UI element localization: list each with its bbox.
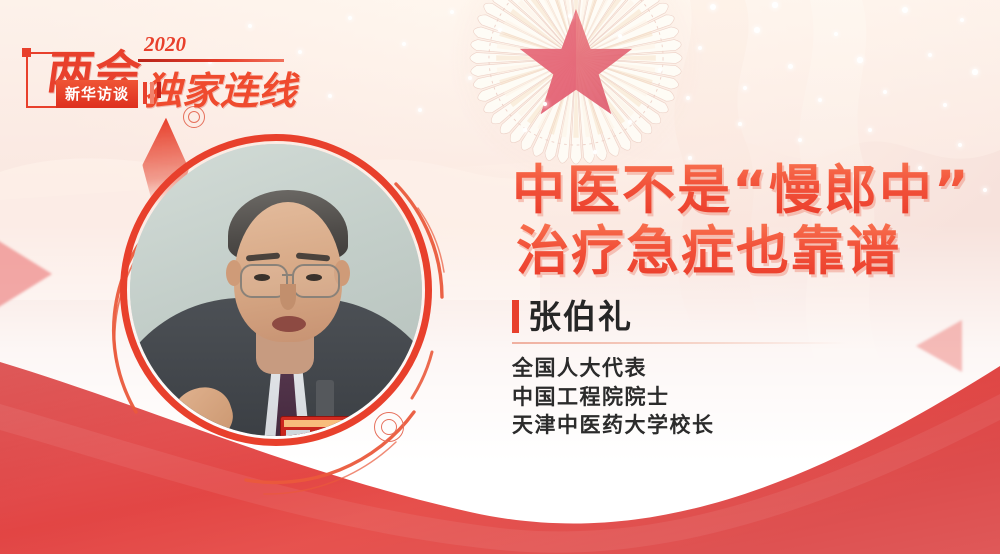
light-dot	[686, 96, 690, 100]
light-dot	[658, 68, 662, 72]
headline-line-2: 治疗急症也靠谱	[516, 221, 982, 282]
guest-portrait-block	[96, 112, 496, 512]
light-dot	[628, 120, 632, 124]
light-dot	[743, 86, 748, 91]
name-accent-bar	[512, 300, 519, 333]
headline-line-1: 中医不是“慢郎中”	[512, 160, 982, 221]
light-dot	[818, 98, 822, 102]
ring-decoration-2-inner-icon	[381, 419, 397, 435]
light-dot	[772, 2, 777, 7]
light-dot	[928, 53, 933, 58]
guest-info-block: 张伯礼 全国人大代表 中国工程院院士 天津中医药大学校长	[512, 300, 872, 440]
light-dot	[568, 14, 572, 18]
logo-secondary-text: 独家连线	[144, 60, 296, 115]
light-dot	[618, 34, 623, 39]
logo-year: 2020	[144, 32, 186, 57]
light-dot	[958, 143, 962, 147]
guest-name-row: 张伯礼	[512, 300, 872, 333]
light-dot	[593, 150, 597, 154]
light-dot	[798, 138, 802, 142]
light-dot	[328, 94, 332, 98]
light-dot	[523, 128, 526, 131]
poster-canvas: 两会 2020 独家连线 新华访谈 中医不是“慢郎中” 治疗急症也靠谱 张伯礼 …	[0, 0, 1000, 554]
light-dot	[298, 50, 302, 54]
light-dot	[738, 122, 742, 126]
program-logo[interactable]: 两会 2020 独家连线 新华访谈	[26, 18, 286, 114]
light-dot	[868, 128, 873, 133]
light-dot	[960, 18, 964, 22]
headline-block: 中医不是“慢郎中” 治疗急症也靠谱	[512, 160, 982, 283]
guest-name: 张伯礼	[528, 300, 633, 333]
light-dot	[983, 188, 987, 192]
logo-bars-decoration	[143, 82, 161, 104]
light-dot	[698, 46, 702, 50]
light-dot	[857, 57, 862, 62]
name-divider	[512, 342, 846, 344]
credential-line: 全国人大代表	[512, 354, 872, 383]
light-dot	[754, 27, 760, 33]
light-dot	[834, 32, 839, 37]
light-dot	[468, 76, 472, 80]
logo-square-marker	[22, 48, 31, 57]
credential-line: 天津中医药大学校长	[512, 411, 872, 440]
light-dot	[710, 4, 716, 10]
light-dot	[543, 102, 547, 106]
light-dot	[943, 103, 947, 107]
light-dot	[972, 69, 977, 74]
light-dot	[402, 42, 407, 47]
light-dot	[902, 7, 908, 13]
light-dot	[788, 64, 793, 69]
logo-badge: 新华访谈	[56, 80, 138, 108]
light-dot	[498, 28, 502, 32]
light-dot	[450, 10, 454, 14]
light-dot	[883, 90, 888, 95]
portrait-ring	[120, 134, 432, 446]
credential-line: 中国工程院院士	[512, 383, 872, 412]
light-dot	[348, 16, 352, 20]
guest-credentials: 全国人大代表 中国工程院院士 天津中医药大学校长	[512, 354, 872, 440]
